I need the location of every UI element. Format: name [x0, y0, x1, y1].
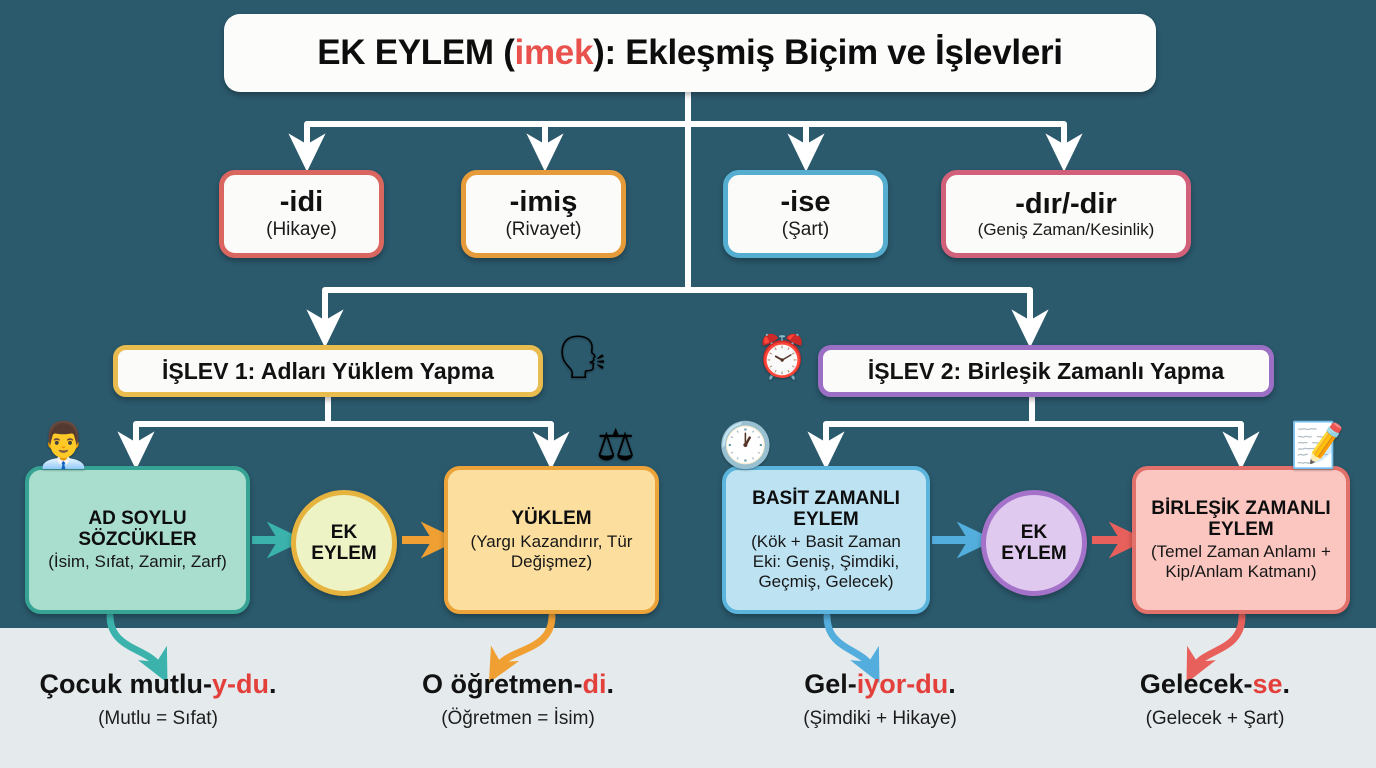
- box-heading: BİRLEŞİK ZAMANLI EYLEM: [1146, 498, 1336, 541]
- box-heading: AD SOYLU SÖZCÜKLER: [39, 508, 236, 551]
- box-detail: (İsim, Sıfat, Zamir, Zarf): [48, 552, 227, 572]
- concept-box-ad-soylu-sozcukler[interactable]: AD SOYLU SÖZCÜKLER (İsim, Sıfat, Zamir, …: [25, 466, 250, 614]
- memo-icon: 📝: [1290, 424, 1345, 468]
- suffix-card-idi[interactable]: -idi (Hikaye): [219, 170, 384, 258]
- title-accent: imek: [515, 33, 594, 72]
- example-note: (Öğretmen = İsim): [378, 708, 658, 730]
- example-geliyordu: Gel-iyor-du. (Şimdiki + Hikaye): [740, 668, 1020, 730]
- circle-line-1: EK: [1021, 522, 1047, 543]
- box-detail: (Yargı Kazandırır, Tür Değişmez): [458, 532, 645, 572]
- example-suffix: iyor-du: [857, 669, 949, 699]
- page-title-text: EK EYLEM (imek): Ekleşmiş Biçim ve İşlev…: [317, 33, 1062, 73]
- function-label: İŞLEV 1: Adları Yüklem Yapma: [162, 358, 494, 385]
- example-end: .: [1283, 669, 1291, 699]
- concept-box-basit-zamanli-eylem[interactable]: BASİT ZAMANLI EYLEM (Kök + Basit Zaman E…: [722, 466, 930, 614]
- suffix-card-ise[interactable]: -ise (Şart): [723, 170, 888, 258]
- ek-eylem-circle-left[interactable]: EK EYLEM: [291, 490, 397, 596]
- example-suffix: y-du: [212, 669, 269, 699]
- suffix-sublabel: (Geniş Zaman/Kesinlik): [978, 220, 1155, 240]
- box-detail: (Temel Zaman Anlamı + Kip/Anlam Katmanı): [1146, 542, 1336, 582]
- suffix-card-dir[interactable]: -dır/-dir (Geniş Zaman/Kesinlik): [941, 170, 1191, 258]
- suffix-label: -dır/-dir: [1015, 189, 1117, 219]
- example-sentence: Gelecek-se.: [1075, 668, 1355, 700]
- example-sentence: O öğretmen-di.: [378, 668, 658, 700]
- function-label: İŞLEV 2: Birleşik Zamanlı Yapma: [868, 358, 1224, 385]
- suffix-sublabel: (Şart): [782, 219, 830, 241]
- example-stem: O öğretmen-: [422, 669, 583, 699]
- box-detail: (Kök + Basit Zaman Eki: Geniş, Şimdiki, …: [736, 532, 916, 592]
- example-sentence: Çocuk mutlu-y-du.: [18, 668, 298, 700]
- balance-scale-icon: ⚖: [596, 424, 635, 468]
- example-o-ogretmendi: O öğretmen-di. (Öğretmen = İsim): [378, 668, 658, 730]
- example-stem: Çocuk mutlu-: [39, 669, 212, 699]
- title-after: ): Ekleşmiş Biçim ve İşlevleri: [593, 33, 1063, 72]
- ek-eylem-circle-right[interactable]: EK EYLEM: [981, 490, 1087, 596]
- concept-box-birlesik-zamanli-eylem[interactable]: BİRLEŞİK ZAMANLI EYLEM (Temel Zaman Anla…: [1132, 466, 1350, 614]
- example-note: (Şimdiki + Hikaye): [740, 708, 1020, 730]
- function-card-islev2[interactable]: İŞLEV 2: Birleşik Zamanlı Yapma: [818, 345, 1274, 397]
- speaking-person-icon: 🗣: [556, 336, 609, 378]
- example-cocuk-mutluydu: Çocuk mutlu-y-du. (Mutlu = Sıfat): [18, 668, 298, 730]
- function-card-islev1[interactable]: İŞLEV 1: Adları Yüklem Yapma: [113, 345, 543, 397]
- example-suffix: se: [1253, 669, 1283, 699]
- example-note: (Gelecek + Şart): [1075, 708, 1355, 730]
- box-heading: YÜKLEM: [511, 508, 591, 529]
- box-heading: BASİT ZAMANLI EYLEM: [736, 488, 916, 531]
- example-suffix: di: [583, 669, 607, 699]
- circle-line-2: EYLEM: [311, 543, 376, 564]
- title-before: EK EYLEM (: [317, 33, 514, 72]
- suffix-sublabel: (Rivayet): [505, 219, 581, 241]
- example-note: (Mutlu = Sıfat): [18, 708, 298, 730]
- circle-line-1: EK: [331, 522, 357, 543]
- infographic-canvas: EK EYLEM (imek): Ekleşmiş Biçim ve İşlev…: [0, 0, 1376, 768]
- suffix-label: -ise: [781, 187, 831, 217]
- example-stem: Gel-: [804, 669, 857, 699]
- example-stem: Gelecek-: [1140, 669, 1253, 699]
- suffix-label: -imiş: [510, 187, 578, 217]
- circle-line-2: EYLEM: [1001, 543, 1066, 564]
- example-sentence: Gel-iyor-du.: [740, 668, 1020, 700]
- example-end: .: [607, 669, 615, 699]
- alarm-clock-icon: ⏰: [756, 336, 808, 378]
- example-end: .: [948, 669, 956, 699]
- suffix-sublabel: (Hikaye): [266, 219, 337, 241]
- office-worker-icon: 👨‍💼: [36, 424, 91, 468]
- suffix-card-imis[interactable]: -imiş (Rivayet): [461, 170, 626, 258]
- suffix-label: -idi: [280, 187, 324, 217]
- example-gelecekse: Gelecek-se. (Gelecek + Şart): [1075, 668, 1355, 730]
- timer-clock-icon: 🕐: [718, 424, 773, 468]
- page-title: EK EYLEM (imek): Ekleşmiş Biçim ve İşlev…: [224, 14, 1156, 92]
- concept-box-yuklem[interactable]: YÜKLEM (Yargı Kazandırır, Tür Değişmez): [444, 466, 659, 614]
- example-end: .: [269, 669, 277, 699]
